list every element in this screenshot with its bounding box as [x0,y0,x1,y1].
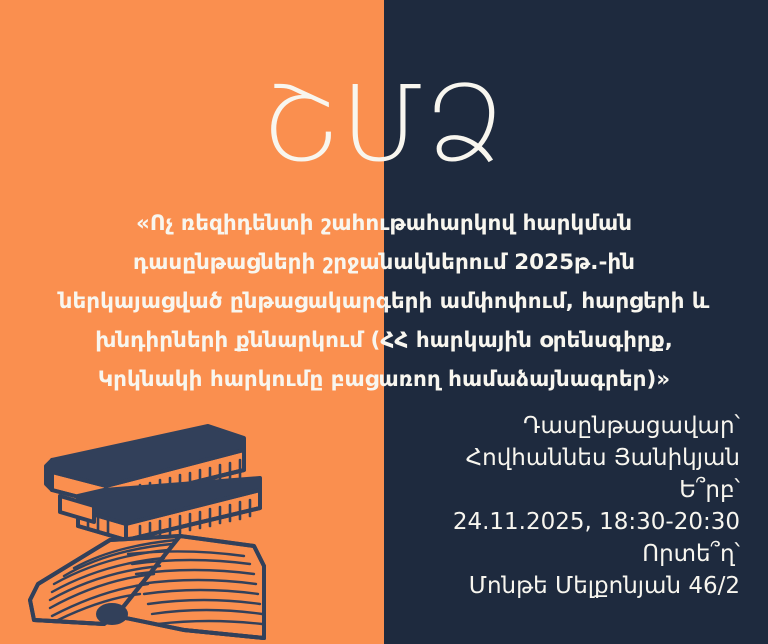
poster-canvas: ՇՄՁ «Ոչ ռեզիդենտի շահութահարկով հարկման … [0,0,768,644]
subtitle-line: խնդիրների քննարկում (ՀՀ հարկային օրենսգի… [34,321,734,360]
when-value: 24.11.2025, 18:30-20:30 [240,506,740,538]
when-label: Ե՞րբ՝ [240,474,740,506]
where-value: Մոնթե Մելքոնյան 46/2 [240,570,740,602]
text-layer: ՇՄՁ «Ոչ ռեզիդենտի շահութահարկով հարկման … [0,0,768,644]
course-subtitle: «Ոչ ռեզիդենտի շահութահարկով հարկման դասը… [34,204,734,399]
subtitle-line: ներկայացված ընթացակարգերի ամփոփում, հարց… [34,282,734,321]
event-details: Դասընթացավար՝ Հովհաննես Յանիկյան Ե՞րբ՝ 2… [240,410,740,602]
page-title: ՇՄՁ [0,68,768,180]
instructor-name: Հովհաննես Յանիկյան [240,442,740,474]
subtitle-line: դասընթացների շրջանակներում 2025թ.-ին [34,243,734,282]
instructor-label: Դասընթացավար՝ [240,410,740,442]
subtitle-line: Կրկնակի հարկումը բացառող համաձայնագրեր)» [34,360,734,399]
subtitle-line: «Ոչ ռեզիդենտի շահութահարկով հարկման [34,204,734,243]
where-label: Որտե՞ղ՝ [240,538,740,570]
